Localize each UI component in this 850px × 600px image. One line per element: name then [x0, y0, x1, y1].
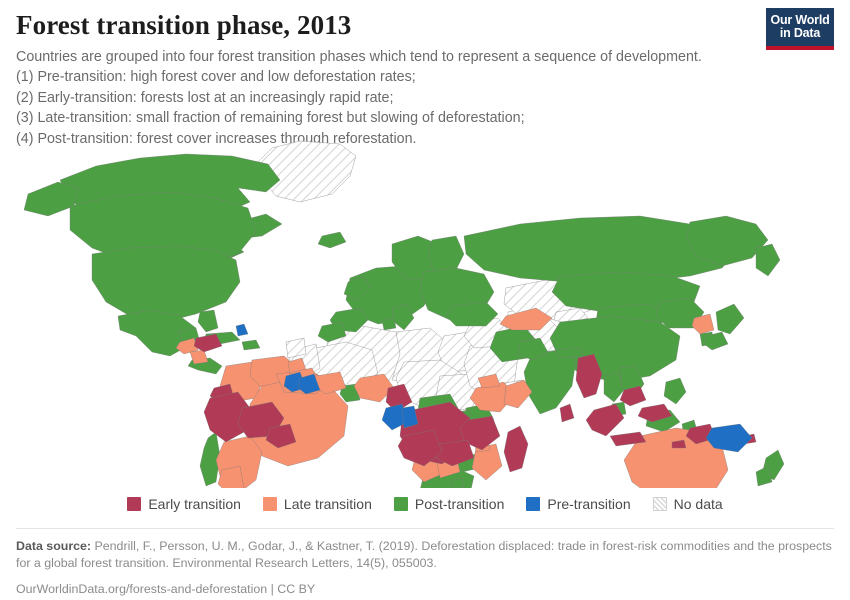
- country-tunisia: [382, 318, 396, 330]
- country-bahamas: [236, 324, 248, 336]
- legend-label-nodata: No data: [674, 497, 723, 511]
- data-source-label: Data source:: [16, 539, 91, 553]
- country-hispaniola: [242, 340, 260, 350]
- country-usa: [92, 246, 240, 322]
- map-svg[interactable]: [0, 136, 850, 488]
- legend-swatch-pre: [526, 497, 540, 511]
- subtitle-line-3: (3) Late-transition: small fraction of r…: [16, 108, 834, 128]
- chart-page: Forest transition phase, 2013 Countries …: [0, 0, 850, 600]
- chart-footer: Data source: Pendrill, F., Persson, U. M…: [16, 528, 834, 598]
- legend-item-late[interactable]: Late transition: [263, 497, 372, 511]
- country-sumatra: [586, 404, 624, 436]
- legend-label-late: Late transition: [284, 497, 372, 511]
- country-madagascar: [504, 426, 528, 472]
- chart-header: Forest transition phase, 2013 Countries …: [16, 8, 834, 149]
- map-legend: Early transition Late transition Post-tr…: [0, 492, 850, 516]
- legend-label-early: Early transition: [148, 497, 241, 511]
- legend-item-nodata[interactable]: No data: [653, 497, 723, 511]
- legend-swatch-early: [127, 497, 141, 511]
- subtitle-line-0: Countries are grouped into four forest t…: [16, 47, 834, 67]
- source-link[interactable]: OurWorldinData.org/forests-and-deforesta…: [16, 581, 834, 598]
- footer-divider: [16, 528, 834, 529]
- country-sri-lanka: [560, 404, 574, 422]
- page-title: Forest transition phase, 2013: [16, 8, 834, 42]
- country-iceland: [318, 232, 346, 248]
- world-choropleth-map[interactable]: [0, 136, 850, 488]
- country-finland-baltic: [428, 236, 464, 274]
- data-source: Data source: Pendrill, F., Persson, U. M…: [16, 538, 834, 572]
- subtitle-line-1: (1) Pre-transition: high forest cover an…: [16, 67, 834, 87]
- owid-logo-line2: in Data: [780, 27, 820, 41]
- legend-swatch-nodata: [653, 497, 667, 511]
- country-lesotho: [452, 478, 464, 488]
- legend-swatch-late: [263, 497, 277, 511]
- country-philippines: [664, 378, 686, 404]
- legend-label-pre: Pre-transition: [547, 497, 630, 511]
- owid-logo[interactable]: Our World in Data: [766, 8, 834, 50]
- legend-item-post[interactable]: Post-transition: [394, 497, 504, 511]
- owid-logo-line1: Our World: [770, 14, 829, 28]
- country-kamchatka: [756, 244, 780, 276]
- subtitle-line-2: (2) Early-transition: forests lost at an…: [16, 88, 834, 108]
- legend-item-pre[interactable]: Pre-transition: [526, 497, 630, 511]
- data-source-text: Pendrill, F., Persson, U. M., Godar, J.,…: [16, 539, 832, 570]
- country-japan: [716, 304, 744, 334]
- legend-label-post: Post-transition: [415, 497, 504, 511]
- legend-swatch-post: [394, 497, 408, 511]
- country-usa-florida: [198, 310, 218, 332]
- chart-subtitle: Countries are grouped into four forest t…: [16, 47, 834, 149]
- legend-item-early[interactable]: Early transition: [127, 497, 241, 511]
